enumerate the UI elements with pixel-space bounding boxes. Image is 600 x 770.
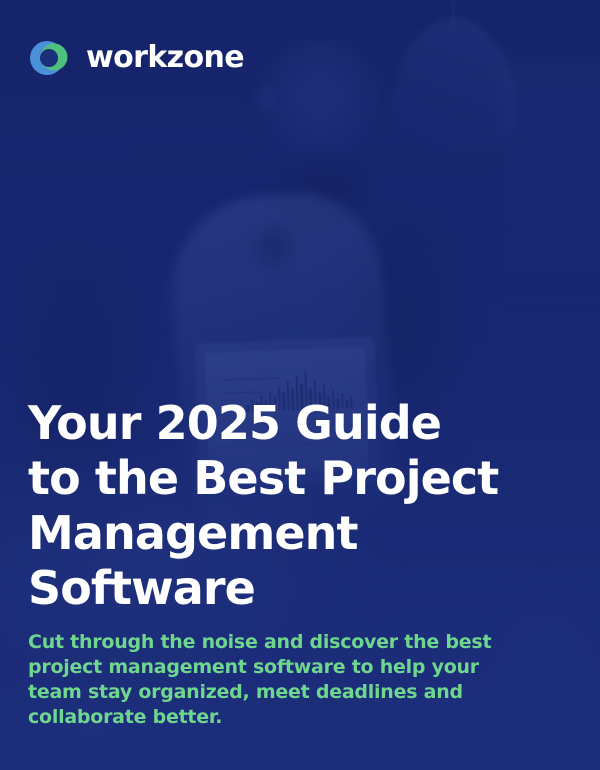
brand-wordmark: workzone bbox=[86, 43, 244, 73]
subtitle-line: project management software to help your bbox=[28, 655, 528, 680]
subtitle-line: collaborate better. bbox=[28, 705, 528, 730]
headline-line: Your 2025 Guide bbox=[28, 396, 548, 451]
headline-line: to the Best Project bbox=[28, 451, 548, 506]
headline-line: Software bbox=[28, 561, 548, 616]
cover-content: workzone Your 2025 Guide to the Best Pro… bbox=[0, 0, 600, 770]
workzone-logo-icon bbox=[28, 36, 72, 80]
brand-lockup: workzone bbox=[28, 36, 244, 80]
subtitle-line: team stay organized, meet deadlines and bbox=[28, 680, 528, 705]
ebook-cover: workzone Your 2025 Guide to the Best Pro… bbox=[0, 0, 600, 770]
headline-line: Management bbox=[28, 506, 548, 561]
subtitle-line: Cut through the noise and discover the b… bbox=[28, 630, 528, 655]
page-subtitle: Cut through the noise and discover the b… bbox=[28, 630, 528, 730]
page-title: Your 2025 Guide to the Best Project Mana… bbox=[28, 396, 548, 616]
